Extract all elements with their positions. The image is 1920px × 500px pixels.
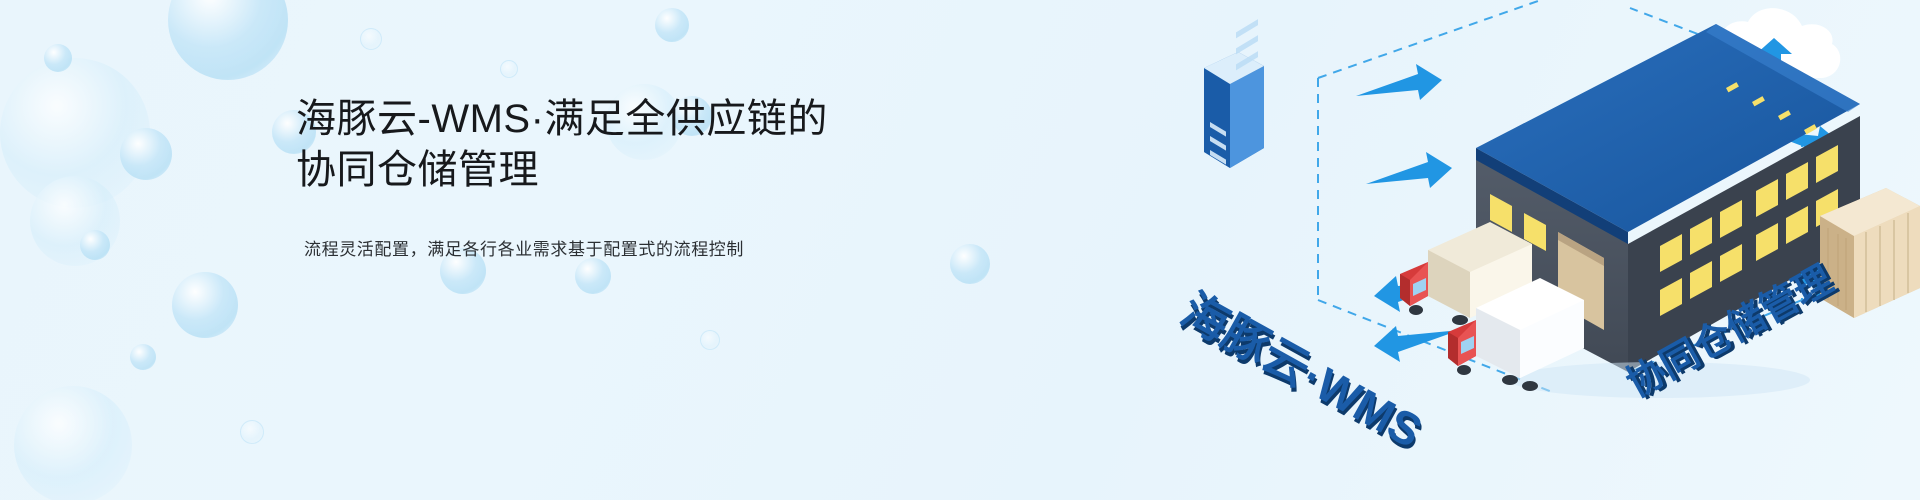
server-rack-icon: [1204, 19, 1264, 168]
warehouse-illustration: 海豚云·WMS 海豚云·WMS 协同仓储管理 协同仓储管理: [1160, 0, 1920, 500]
bubble-4: [30, 176, 120, 266]
illustration-label-left: 海豚云·WMS 海豚云·WMS: [1172, 283, 1434, 461]
bubble-16: [360, 28, 382, 50]
arrow-in-mid: [1366, 152, 1452, 188]
bubble-12: [950, 244, 990, 284]
illustration-label-left-text: 海豚云·WMS: [1173, 283, 1431, 457]
banner-title: 海豚云-WMS·满足全供应链的 协同仓储管理: [296, 94, 936, 196]
bubble-6: [80, 230, 110, 260]
bubble-13: [14, 386, 132, 500]
banner-subtitle: 流程灵活配置，满足各行各业需求基于配置式的流程控制: [304, 236, 936, 263]
bubble-19: [700, 330, 720, 350]
bubble-5: [172, 272, 238, 338]
bubble-3: [120, 128, 172, 180]
bubble-15: [44, 44, 72, 72]
arrow-left-return-2: [1374, 326, 1460, 362]
bubble-17: [500, 60, 518, 78]
bubble-18: [240, 420, 264, 444]
bubble-2: [655, 8, 689, 42]
promo-banner: 海豚云-WMS·满足全供应链的 协同仓储管理 流程灵活配置，满足各行各业需求基于…: [0, 0, 1920, 500]
bubble-1: [0, 58, 150, 208]
bubble-0: [168, 0, 288, 80]
bubble-14: [130, 344, 156, 370]
banner-copy: 海豚云-WMS·满足全供应链的 协同仓储管理 流程灵活配置，满足各行各业需求基于…: [296, 94, 936, 264]
arrow-in-top: [1356, 64, 1442, 100]
